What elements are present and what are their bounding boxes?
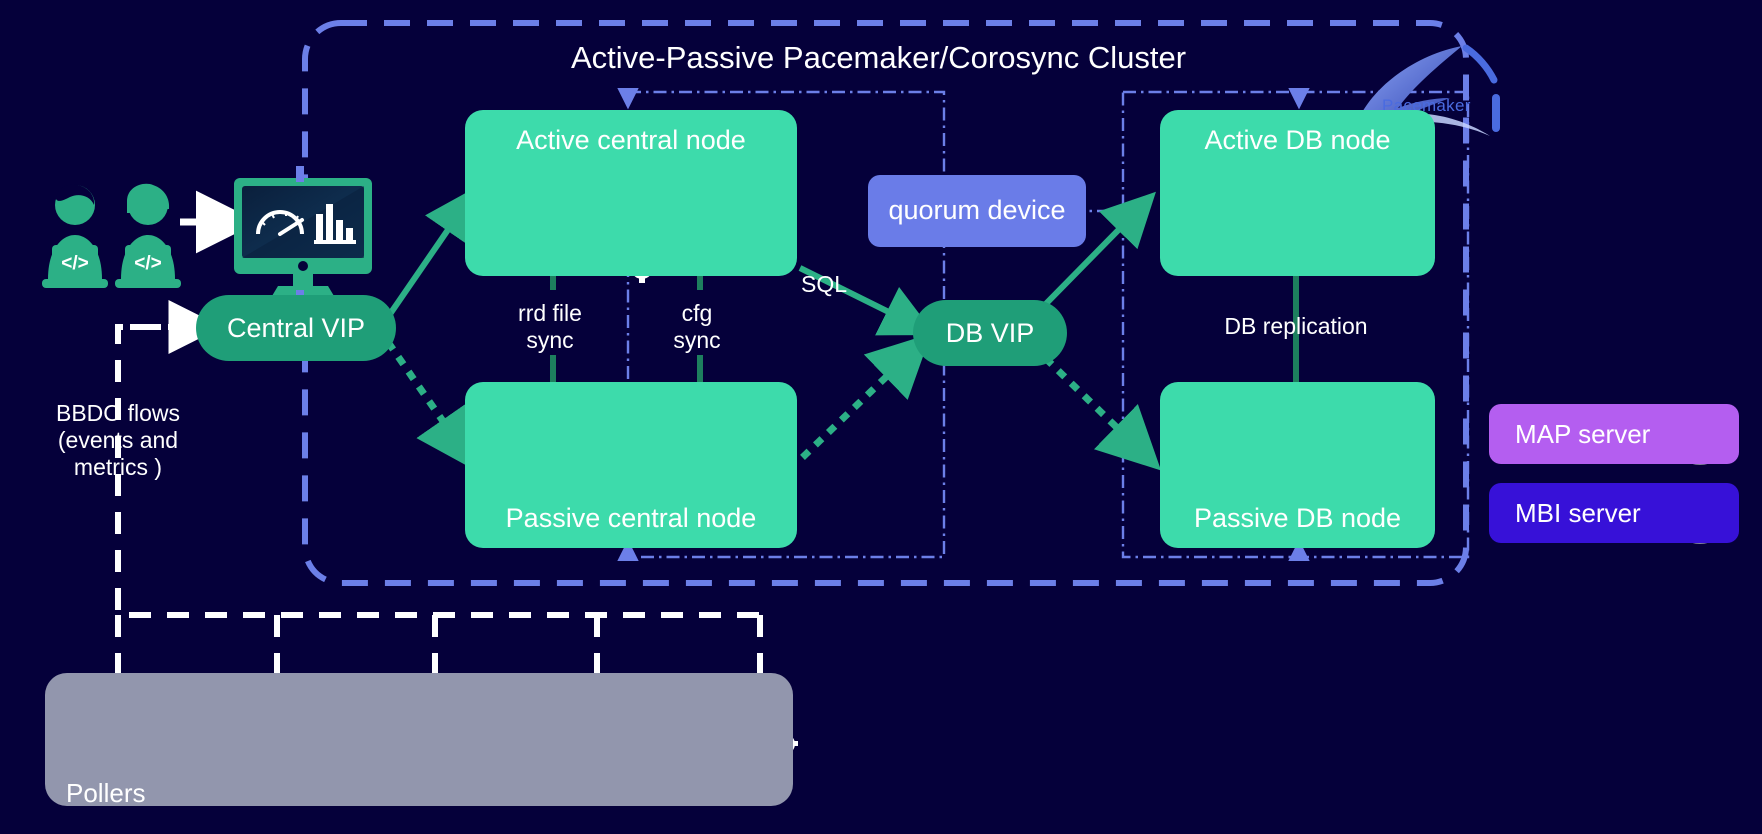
node-passive-db-label: Passive DB node	[1194, 504, 1401, 534]
legend-map-server-label: MAP server	[1515, 419, 1650, 450]
diagram-canvas: </> </>	[0, 0, 1762, 834]
gauge-icon	[258, 212, 302, 234]
node-active-db[interactable]: Active DB node	[1160, 110, 1435, 276]
db-vip-label: DB VIP	[946, 318, 1035, 349]
node-passive-db[interactable]: Passive DB node	[1160, 382, 1435, 548]
arrow-passive-to-dbvip	[805, 352, 912, 455]
arrow-centralvip-to-active	[388, 205, 465, 317]
legend-mbi-server-label: MBI server	[1515, 498, 1641, 529]
monitor-to-centralvip-link	[296, 166, 304, 310]
db-vip-pill[interactable]: DB VIP	[913, 300, 1067, 366]
bar-chart-icon	[314, 204, 356, 244]
node-active-central[interactable]: Active central node	[465, 110, 797, 276]
quorum-device-box[interactable]: quorum device	[868, 175, 1086, 247]
user-laptop-icon: </>	[42, 177, 108, 288]
label-sql: SQL	[793, 271, 855, 298]
pollers-label: Pollers	[66, 778, 145, 809]
svg-text:</>: </>	[134, 253, 161, 274]
label-rrd-sync: rrd file sync	[480, 300, 620, 354]
quorum-device-label: quorum device	[888, 195, 1065, 227]
legend-map-server[interactable]: MAP server	[1489, 404, 1739, 464]
cluster-title: Active-Passive Pacemaker/Corosync Cluste…	[571, 40, 1186, 76]
central-vip-pill[interactable]: Central VIP	[196, 295, 396, 361]
node-passive-central-label: Passive central node	[506, 504, 757, 534]
pollers-container[interactable]	[45, 673, 793, 806]
node-passive-central[interactable]: Passive central node	[465, 382, 797, 548]
monitor-dashboard-icon	[234, 178, 372, 296]
label-bbdo-flows: BBDO flows (events and metrics )	[18, 400, 218, 481]
node-active-db-label: Active DB node	[1204, 126, 1390, 156]
user-laptop-icon: </>	[115, 184, 181, 288]
svg-text:</>: </>	[61, 253, 88, 274]
node-active-central-label: Active central node	[516, 126, 746, 156]
arrow-dbvip-to-passivedb	[1035, 348, 1142, 452]
arrow-centralvip-to-passive	[390, 345, 463, 450]
legend-mbi-server[interactable]: MBI server	[1489, 483, 1739, 543]
central-vip-label: Central VIP	[227, 313, 365, 344]
label-db-replication: DB replication	[1180, 313, 1412, 340]
label-cfg-sync: cfg sync	[632, 300, 762, 354]
